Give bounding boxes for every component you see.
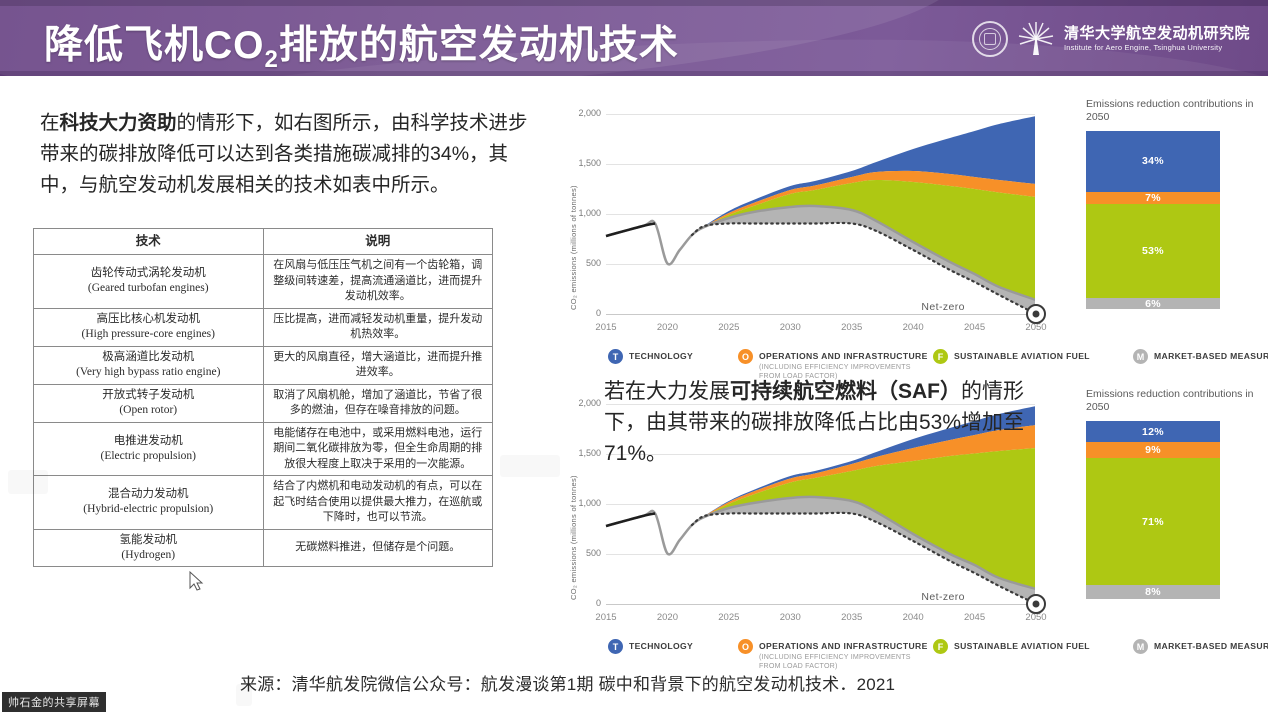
bar-segment-market-based-measure: 8% — [1086, 585, 1220, 599]
contributions-stacked-bar: 12%9%71%8% — [1086, 421, 1220, 599]
tech-name-en: (Hybrid-electric propulsion) — [40, 502, 257, 517]
table-cell-desc: 取消了风扇机舱，增加了涵道比，节省了很多的燃油，但存在噪音排放的问题。 — [263, 384, 493, 422]
tech-name-en: (Electric propulsion) — [40, 449, 257, 464]
legend-label: TECHNOLOGY — [629, 348, 693, 362]
legend-marker-o-icon: O — [738, 349, 753, 364]
net-zero-annotation: Net-zero — [921, 301, 964, 313]
table-cell-desc: 在风扇与低压压气机之间有一个齿轮箱，调整级间转速差，提高流通涵道比，进而提升发动… — [263, 255, 493, 309]
legend-item-market-based-measure: MMARKET-BASED MEASURE — [1133, 638, 1268, 654]
logo-name-cn: 清华大学航空发动机研究院 — [1064, 26, 1250, 42]
table-cell-desc: 结合了内燃机和电动发动机的有点，可以在起飞时结合使用以提供最大推力，在巡航或下降… — [263, 476, 493, 530]
bar-segment-label: 53% — [1142, 245, 1164, 257]
table-row: 齿轮传动式涡轮发动机 (Geared turbofan engines) 在风扇… — [34, 255, 493, 309]
legend-label: OPERATIONS AND INFRASTRUCTURE(INCLUDING … — [759, 638, 933, 671]
contributions-caption: Emissions reduction contributions in 205… — [1086, 388, 1268, 414]
tech-name-en: (High pressure-core engines) — [40, 327, 257, 342]
legend-marker-t-icon: T — [608, 639, 623, 654]
bar-segment-label: 71% — [1142, 516, 1164, 528]
table-cell-desc: 无碳燃料推进，但储存是个问题。 — [263, 529, 493, 566]
tech-name-cn: 电推进发动机 — [40, 434, 257, 449]
logo-name-en: Institute for Aero Engine, Tsinghua Univ… — [1064, 44, 1250, 52]
legend-item-technology: TTECHNOLOGY — [608, 638, 738, 654]
table-header-row: 技术 说明 — [34, 229, 493, 255]
bar-segment-label: 12% — [1142, 426, 1164, 438]
logo-text: 清华大学航空发动机研究院 Institute for Aero Engine, … — [1064, 26, 1250, 52]
left-paragraph-prefix: 在 — [40, 112, 60, 134]
legend-item-sustainable-aviation-fuel: FSUSTAINABLE AVIATION FUEL — [933, 348, 1133, 364]
table-row: 极高涵道比发动机 (Very high bypass ratio engine)… — [34, 346, 493, 384]
middle-paragraph: 若在大力发展可持续航空燃料（SAF）的情形下，由其带来的碳排放降低占比由53%增… — [604, 376, 1034, 469]
bar-segment-label: 9% — [1145, 444, 1161, 456]
table-row: 电推进发动机 (Electric propulsion) 电能储存在电池中，或采… — [34, 422, 493, 476]
table-cell-tech: 电推进发动机 (Electric propulsion) — [34, 422, 264, 476]
legend-marker-m-icon: M — [1133, 349, 1148, 364]
tech-name-cn: 氢能发动机 — [40, 533, 257, 548]
bar-segment-technology: 34% — [1086, 131, 1220, 192]
table-cell-desc: 压比提高，进而减轻发动机重量，提升发动机热效率。 — [263, 308, 493, 346]
left-paragraph-bold: 科技大力资助 — [60, 112, 177, 134]
page-title-subscript: 2 — [265, 46, 279, 73]
net-zero-target-marker — [1027, 595, 1045, 613]
tech-name-cn: 混合动力发动机 — [40, 487, 257, 502]
table-row: 混合动力发动机 (Hybrid-electric propulsion) 结合了… — [34, 476, 493, 530]
artifact-ghost — [500, 455, 560, 477]
table-cell-tech: 极高涵道比发动机 (Very high bypass ratio engine) — [34, 346, 264, 384]
technology-table-wrapper: 技术 说明 齿轮传动式涡轮发动机 (Geared turbofan engine… — [33, 228, 493, 567]
table-cell-tech: 高压比核心机发动机 (High pressure-core engines) — [34, 308, 264, 346]
table-cell-desc: 电能储存在电池中，或采用燃料电池，运行期间二氧化碳排放为零，但全生命周期的排放很… — [263, 422, 493, 476]
bar-segment-market-based-measure: 6% — [1086, 298, 1220, 309]
bar-segment-sustainable-aviation-fuel: 71% — [1086, 458, 1220, 584]
page-title-rest: 排放的航空发动机技术 — [279, 24, 679, 67]
tech-name-cn: 齿轮传动式涡轮发动机 — [40, 266, 257, 281]
bar-segment-label: 6% — [1145, 298, 1161, 310]
bar-segment-label: 34% — [1142, 155, 1164, 167]
legend-label: TECHNOLOGY — [629, 638, 693, 652]
legend-item-operations-and-infrastructure: OOPERATIONS AND INFRASTRUCTURE(INCLUDING… — [738, 638, 933, 671]
table-row: 氢能发动机 (Hydrogen) 无碳燃料推进，但储存是个问题。 — [34, 529, 493, 566]
legend-marker-f-icon: F — [933, 349, 948, 364]
legend-marker-m-icon: M — [1133, 639, 1148, 654]
contributions-panel-top: Emissions reduction contributions in 205… — [1086, 98, 1268, 313]
legend-item-technology: TTECHNOLOGY — [608, 348, 738, 364]
page-title-main: 降低飞机CO — [44, 24, 265, 67]
table-header-desc: 说明 — [263, 229, 493, 255]
tech-name-en: (Geared turbofan engines) — [40, 281, 257, 296]
historical-line — [606, 224, 655, 237]
screen-share-label: 帅石金的共享屏幕 — [2, 692, 106, 712]
bar-segment-technology: 12% — [1086, 421, 1220, 442]
aero-engine-burst-icon — [1016, 19, 1056, 59]
tech-name-cn: 开放式转子发动机 — [40, 388, 257, 403]
tsinghua-seal-icon — [972, 21, 1008, 57]
tech-name-en: (Open rotor) — [40, 403, 257, 418]
tech-name-en: (Very high bypass ratio engine) — [40, 365, 257, 380]
legend-item-market-based-measure: MMARKET-BASED MEASURE — [1133, 348, 1268, 364]
legend-item-sustainable-aviation-fuel: FSUSTAINABLE AVIATION FUEL — [933, 638, 1133, 654]
tech-name-cn: 高压比核心机发动机 — [40, 312, 257, 327]
chart-legend: TTECHNOLOGYOOPERATIONS AND INFRASTRUCTUR… — [608, 638, 1218, 671]
table-row: 开放式转子发动机 (Open rotor) 取消了风扇机舱，增加了涵道比，节省了… — [34, 384, 493, 422]
table-cell-desc: 更大的风扇直径，增大涵道比，进而提升推进效率。 — [263, 346, 493, 384]
mouse-cursor-icon — [190, 572, 204, 592]
table-cell-tech: 混合动力发动机 (Hybrid-electric propulsion) — [34, 476, 264, 530]
legend-label: MARKET-BASED MEASURE — [1154, 348, 1268, 362]
contributions-panel-bottom: Emissions reduction contributions in 205… — [1086, 388, 1268, 603]
legend-marker-f-icon: F — [933, 639, 948, 654]
bar-segment-operations-and-infrastructure: 7% — [1086, 192, 1220, 204]
bar-segment-label: 7% — [1145, 192, 1161, 204]
artifact-ghost — [8, 470, 48, 494]
institute-logo: 清华大学航空发动机研究院 Institute for Aero Engine, … — [972, 18, 1250, 60]
slide-root: 降低飞机CO2排放的航空发动机技术 清华大学航空发动机研究院 — [0, 0, 1268, 714]
legend-label: MARKET-BASED MEASURE — [1154, 638, 1268, 652]
tech-name-en: (Hydrogen) — [40, 548, 257, 563]
chart-top: CO₂ emissions (millions of tonnes)05001,… — [560, 96, 1080, 361]
page-title: 降低飞机CO2排放的航空发动机技术 — [44, 14, 679, 74]
legend-sublabel: (INCLUDING EFFICIENCY IMPROVEMENTS FROM … — [759, 652, 933, 671]
table-cell-tech: 开放式转子发动机 (Open rotor) — [34, 384, 264, 422]
left-paragraph: 在科技大力资助的情形下，如右图所示，由科学技术进步带来的碳排放降低可以达到各类措… — [40, 108, 532, 201]
legend-marker-o-icon: O — [738, 639, 753, 654]
source-line: 来源：清华航发院微信公众号：航发漫谈第1期 碳中和背景下的航空发动机技术．202… — [240, 670, 895, 695]
legend-marker-t-icon: T — [608, 349, 623, 364]
area-band — [606, 180, 1036, 300]
table-header-tech: 技术 — [34, 229, 264, 255]
historical-line — [606, 514, 655, 527]
middle-paragraph-prefix: 若在大力发展 — [604, 380, 730, 403]
tech-name-cn: 极高涵道比发动机 — [40, 350, 257, 365]
legend-label: SUSTAINABLE AVIATION FUEL — [954, 348, 1090, 362]
bar-segment-label: 8% — [1145, 586, 1161, 598]
bar-segment-sustainable-aviation-fuel: 53% — [1086, 204, 1220, 298]
bar-segment-operations-and-infrastructure: 9% — [1086, 442, 1220, 458]
slide-header: 降低飞机CO2排放的航空发动机技术 清华大学航空发动机研究院 — [0, 0, 1268, 76]
technology-table: 技术 说明 齿轮传动式涡轮发动机 (Geared turbofan engine… — [33, 228, 493, 567]
legend-label: SUSTAINABLE AVIATION FUEL — [954, 638, 1090, 652]
middle-paragraph-bold: 可持续航空燃料（SAF） — [730, 380, 961, 403]
contributions-caption: Emissions reduction contributions in 205… — [1086, 98, 1268, 124]
table-cell-tech: 氢能发动机 (Hydrogen) — [34, 529, 264, 566]
chart-plot-svg — [560, 96, 1050, 324]
net-zero-annotation: Net-zero — [921, 591, 964, 603]
contributions-stacked-bar: 34%7%53%6% — [1086, 131, 1220, 309]
net-zero-target-marker — [1027, 305, 1045, 323]
table-cell-tech: 齿轮传动式涡轮发动机 (Geared turbofan engines) — [34, 255, 264, 309]
table-row: 高压比核心机发动机 (High pressure-core engines) 压… — [34, 308, 493, 346]
